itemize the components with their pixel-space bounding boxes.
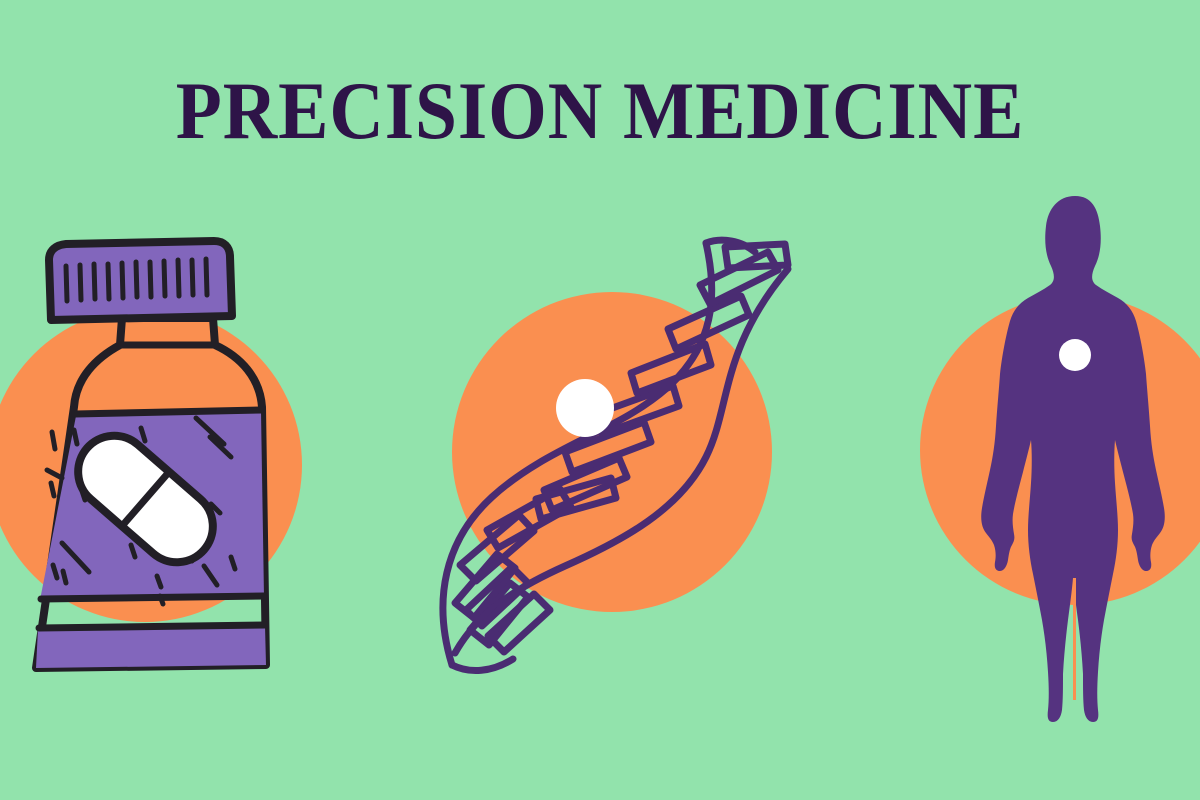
gene-marker-dot: [556, 379, 614, 437]
bottle-label-line-top: [75, 410, 262, 414]
page-title: PRECISION MEDICINE: [48, 70, 1152, 152]
bottle-label-line-mid: [41, 596, 264, 599]
body-marker-dot: [1059, 339, 1091, 371]
bottle-label-lower-band: [36, 626, 266, 668]
human-leg-gap: [1073, 578, 1076, 700]
bottle-label-line-bottom: [39, 625, 265, 628]
poster-canvas: PRECISION MEDICINE: [0, 0, 1200, 800]
